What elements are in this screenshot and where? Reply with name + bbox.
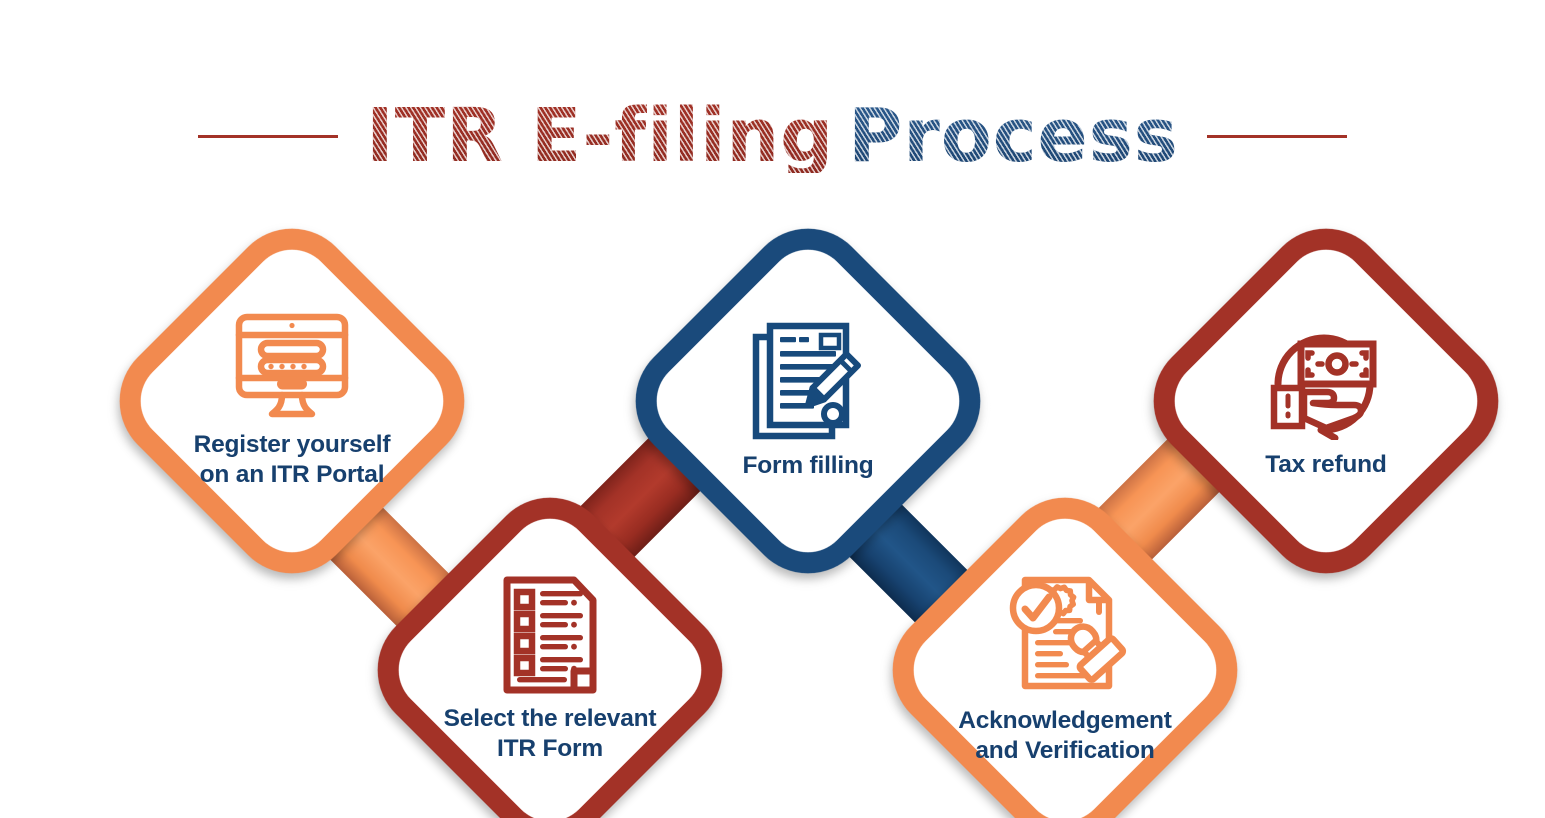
hand-money-refund-icon [1264,322,1388,440]
step-card-5-label: Tax refund [1265,450,1386,480]
step-card-1[interactable]: Register yourself on an ITR Portal [152,261,432,541]
document-pencil-icon [752,321,864,441]
step-card-3[interactable]: Form filling [668,261,948,541]
title-rule-right [1207,135,1347,138]
step-card-2[interactable]: Select the relevant ITR Form [410,530,690,810]
infographic-canvas: ITR E-filing Process [0,0,1545,818]
step-card-2-label: Select the relevant ITR Form [444,704,657,764]
step-card-1-label: Register yourself on an ITR Portal [194,430,391,490]
step-card-4[interactable]: Acknowledgement and Verification [925,530,1205,810]
step-card-3-label: Form filling [743,451,874,481]
checklist-document-icon [502,576,598,694]
page-title: ITR E-filing Process [0,86,1545,186]
title-part-red: ITR E-filing [366,99,834,173]
document-stamp-check-icon [1003,574,1127,696]
title-text: ITR E-filing Process [366,99,1179,173]
monitor-login-icon [233,312,351,420]
title-part-blue: Process [848,99,1179,173]
step-card-4-label: Acknowledgement and Verification [958,706,1171,766]
step-card-5[interactable]: Tax refund [1186,261,1466,541]
title-rule-left [198,135,338,138]
